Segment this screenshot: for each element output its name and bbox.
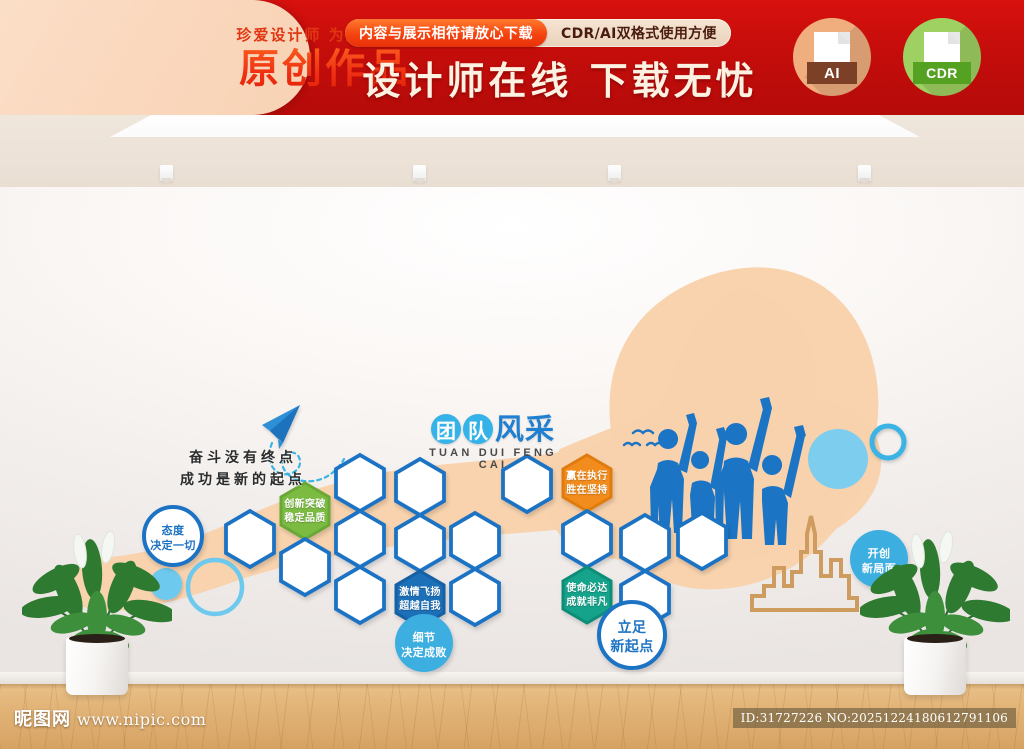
plant-left-pot	[66, 637, 128, 695]
circle-details-line2: 决定成败	[384, 646, 464, 661]
wall-slogan: 奋斗没有终点 成功是新的起点	[148, 448, 338, 491]
ceiling-spot-light	[858, 165, 871, 181]
hex-innovation-line1: 创新突破	[269, 498, 341, 512]
artwork-title: 团 队 风采 TUAN DUI FENG CAI	[413, 414, 573, 471]
circle-newstart-line1: 立足	[592, 619, 672, 638]
ceiling-spot-light	[160, 165, 173, 181]
watermark-cn: 昵图网	[14, 705, 71, 731]
banner-pill-group: 内容与展示相符请放心下载 CDR/AI双格式使用方便	[345, 19, 731, 47]
ai-doc-shape	[814, 32, 850, 66]
plant-right	[860, 505, 1010, 695]
hex-execution-line1: 赢在执行	[551, 470, 623, 484]
hex-innovation-label: 创新突破 稳定品质	[269, 498, 341, 525]
ceiling-light-panel	[110, 115, 920, 137]
photo-hexagon	[621, 515, 669, 571]
slogan-line-2: 成功是新的起点	[148, 470, 338, 492]
ai-file-icon: AI	[793, 18, 871, 96]
pill-primary: 内容与展示相符请放心下载	[345, 19, 547, 47]
watermark-url: www.nipic.com	[77, 710, 206, 729]
site-watermark: 昵图网 www.nipic.com	[14, 705, 206, 731]
photo-hexagon	[678, 513, 726, 569]
plant-right-pot	[904, 637, 966, 695]
pill-secondary: CDR/AI双格式使用方便	[547, 19, 731, 47]
photo-hexagon	[451, 513, 499, 569]
photo-hexagon	[281, 539, 329, 595]
photo-hexagon	[396, 515, 444, 571]
title-chip-2: 队	[463, 414, 493, 444]
circle-newstart-line2: 新起点	[592, 638, 672, 657]
ceiling-spot-light	[608, 165, 621, 181]
hex-passion-label: 激情飞扬 超越自我	[384, 586, 456, 613]
plant-left	[22, 505, 172, 695]
room-scene: 奋斗没有终点 成功是新的起点 团 队 风采 TUAN DUI FENG CAI …	[0, 115, 1024, 749]
slogan-line-1: 奋斗没有终点	[148, 448, 338, 470]
photo-hexagon	[226, 511, 274, 567]
cdr-file-icon: CDR	[903, 18, 981, 96]
photo-hexagon	[336, 511, 384, 567]
photo-hexagon	[451, 569, 499, 625]
photo-hexagon	[563, 511, 611, 567]
banner-headline: 设计师在线 下载无忧	[340, 52, 780, 102]
ceiling-spot-light	[413, 165, 426, 181]
artwork-title-pinyin: TUAN DUI FENG CAI	[413, 447, 573, 471]
hex-passion-line1: 激情飞扬	[384, 586, 456, 600]
screenshot-root: 珍爱设计师 为原创发声 原创作品 内容与展示相符请放心下载 CDR/AI双格式使…	[0, 0, 1024, 749]
decor-circle-filled-right	[808, 429, 868, 489]
artwork-title-cn: 团 队 风采	[413, 414, 573, 444]
photo-hexagon	[336, 567, 384, 623]
photo-hexagon	[336, 455, 384, 511]
hex-passion-line2: 超越自我	[384, 600, 456, 614]
paper-plane-icon	[262, 405, 300, 449]
title-plain: 风采	[495, 415, 555, 444]
circle-details-label: 细节 决定成败	[384, 631, 464, 661]
hex-innovation-line2: 稳定品质	[269, 512, 341, 526]
hex-mission-line2: 成就非凡	[551, 596, 623, 610]
cdr-doc-shape	[924, 32, 960, 66]
circle-details-line1: 细节	[384, 631, 464, 646]
title-chip-1: 团	[431, 414, 461, 444]
circle-newstart-label: 立足 新起点	[592, 619, 672, 657]
hex-mission-line1: 使命必达	[551, 582, 623, 596]
hex-execution-label: 赢在执行 胜在坚持	[551, 470, 623, 497]
hex-execution-line2: 胜在坚持	[551, 484, 623, 498]
promo-banner: 珍爱设计师 为原创发声 原创作品 内容与展示相符请放心下载 CDR/AI双格式使…	[0, 0, 1024, 115]
ai-file-label: AI	[807, 62, 857, 84]
cdr-file-label: CDR	[913, 62, 971, 84]
asset-id-label: ID:31727226 NO:20251224180612791106	[733, 708, 1016, 728]
hex-mission-label: 使命必达 成就非凡	[551, 582, 623, 609]
